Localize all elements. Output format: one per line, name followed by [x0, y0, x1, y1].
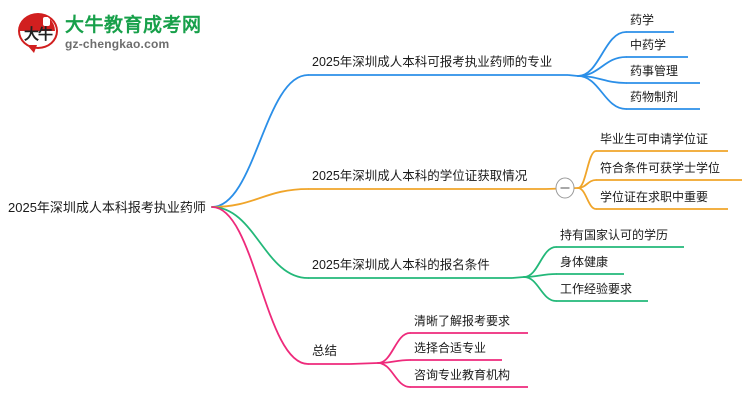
mindmap-canvas[interactable]: 2025年深圳成人本科报考执业药师2025年深圳成人本科可报考执业药师的专业药学… — [0, 0, 750, 410]
mindmap-leaf-node-1-0[interactable]: 毕业生可申请学位证 — [600, 131, 708, 147]
mindmap-leaf-node-0-1[interactable]: 中药学 — [630, 37, 666, 53]
mindmap-leaf-node-1-2[interactable]: 学位证在求职中重要 — [600, 189, 708, 205]
branch-edge-3 — [212, 207, 308, 364]
branch-edge-0 — [212, 75, 308, 207]
mindmap-branch-node-2[interactable]: 2025年深圳成人本科的报名条件 — [312, 257, 490, 273]
branch-stem-0 — [568, 75, 578, 76]
branch-stem-3 — [350, 363, 378, 364]
mindmap-leaf-node-2-0[interactable]: 持有国家认可的学历 — [560, 227, 668, 243]
leaf-edge-0-1 — [578, 57, 626, 76]
mindmap-leaf-node-1-1[interactable]: 符合条件可获学士学位 — [600, 160, 720, 176]
collapse-toggle-1[interactable] — [556, 178, 574, 198]
mindmap-leaf-node-0-2[interactable]: 药事管理 — [630, 63, 678, 79]
mindmap-leaf-node-3-1[interactable]: 选择合适专业 — [414, 340, 486, 356]
leaf-edge-1-2 — [578, 188, 596, 209]
mindmap-root-node[interactable]: 2025年深圳成人本科报考执业药师 — [8, 200, 206, 216]
mindmap-branch-node-1[interactable]: 2025年深圳成人本科的学位证获取情况 — [312, 168, 527, 184]
branch-edge-1 — [212, 189, 308, 207]
leaf-edge-0-3 — [578, 76, 626, 109]
mindmap-leaf-node-3-2[interactable]: 咨询专业教育机构 — [414, 367, 510, 383]
branch-edge-2 — [212, 207, 308, 278]
mindmap-leaf-node-3-0[interactable]: 清晰了解报考要求 — [414, 313, 510, 329]
leaf-edge-1-0 — [578, 151, 596, 188]
leaf-edge-3-2 — [378, 363, 410, 387]
leaf-edge-2-0 — [524, 247, 556, 277]
mindmap-leaf-node-2-1[interactable]: 身体健康 — [560, 254, 608, 270]
leaf-edge-1-1 — [578, 180, 596, 188]
mindmap-leaf-node-0-3[interactable]: 药物制剂 — [630, 89, 678, 105]
leaf-edge-3-0 — [378, 333, 410, 363]
branch-stem-2 — [512, 277, 524, 278]
mindmap-branch-node-0[interactable]: 2025年深圳成人本科可报考执业药师的专业 — [312, 54, 552, 70]
mindmap-leaf-node-0-0[interactable]: 药学 — [630, 12, 654, 28]
leaf-edge-2-2 — [524, 277, 556, 301]
mindmap-branch-node-3[interactable]: 总结 — [312, 343, 337, 359]
mindmap-leaf-node-2-2[interactable]: 工作经验要求 — [560, 281, 632, 297]
leaf-edge-0-0 — [578, 32, 626, 76]
